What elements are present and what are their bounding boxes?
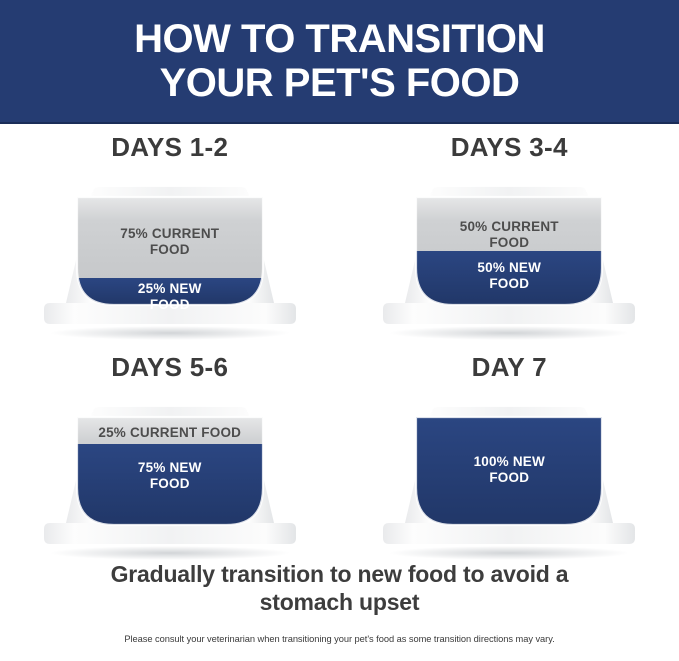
new-food-fill [416, 251, 602, 305]
food-bowl: 25% CURRENT FOOD 75% NEWFOOD [30, 384, 310, 564]
food-bowl: 50% CURRENTFOOD 50% NEWFOOD [369, 164, 649, 344]
transition-step-1: DAYS 1-2 [0, 124, 340, 344]
step-day-label: DAYS 5-6 [111, 352, 228, 382]
bowl-graphic [369, 384, 649, 564]
step-day-label: DAYS 3-4 [451, 132, 568, 162]
bowl-cavity [77, 197, 263, 305]
transition-step-2: DAYS 3-4 50% CURREN [340, 124, 679, 344]
header-title-line-1: HOW TO TRANSITION [134, 17, 545, 61]
transition-steps-grid: DAYS 1-2 [0, 124, 679, 554]
bowl-graphic [30, 164, 310, 344]
new-food-fill [77, 278, 263, 305]
footer-disclaimer: Please consult your veterinarian when tr… [124, 633, 554, 645]
food-bowl: 100% NEWFOOD [369, 384, 649, 564]
food-bowl: 75% CURRENTFOOD 25% NEWFOOD [30, 164, 310, 344]
step-day-label: DAYS 1-2 [111, 132, 228, 162]
footer-tagline: Gradually transition to new food to avoi… [105, 560, 575, 616]
bowl-cavity [77, 417, 263, 525]
new-food-fill [77, 444, 263, 525]
header-banner: HOW TO TRANSITION YOUR PET'S FOOD [0, 0, 679, 124]
bowl-graphic [369, 164, 649, 344]
bowl-cavity [416, 417, 602, 525]
header-title-line-2: YOUR PET'S FOOD [160, 61, 520, 105]
new-food-fill [416, 417, 602, 525]
bowl-cavity [416, 197, 602, 305]
footer: Gradually transition to new food to avoi… [0, 554, 679, 661]
transition-step-3: DAYS 5-6 25% CURREN [0, 344, 340, 564]
step-day-label: DAY 7 [472, 352, 547, 382]
transition-step-4: DAY 7 100% NEWFOOD [340, 344, 679, 564]
bowl-graphic [30, 384, 310, 564]
